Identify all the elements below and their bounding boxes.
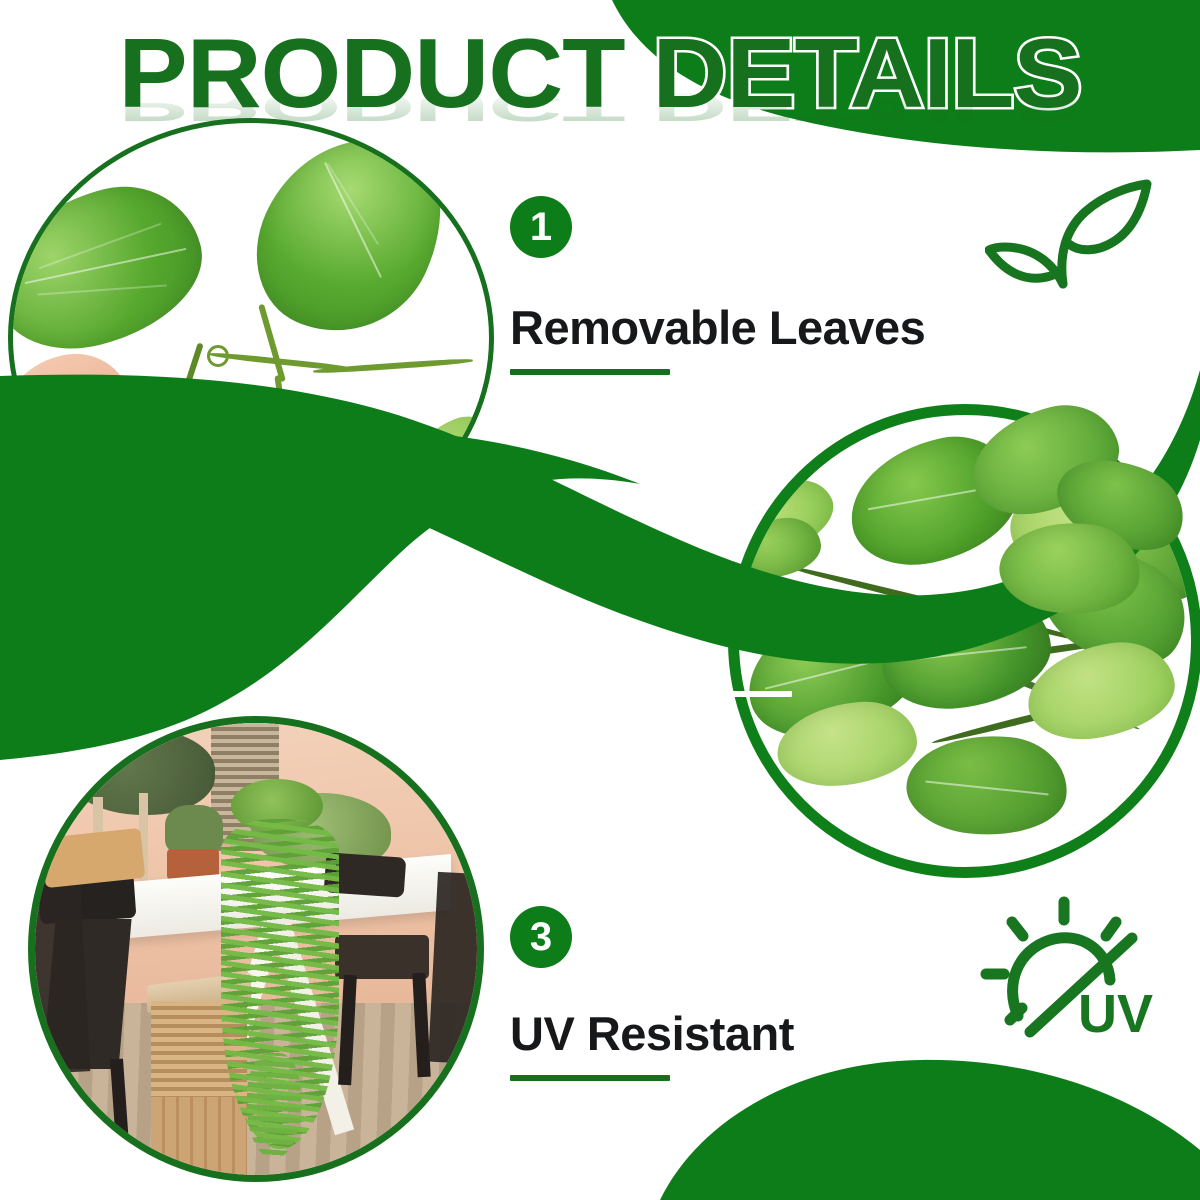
- background-shapes: [0, 0, 1200, 1200]
- bottom-right-green-shape: [660, 1060, 1200, 1200]
- product-details-infographic: PRODUCT DETAILS PRODUCT DETAILS: [0, 0, 1200, 1200]
- left-green-field: [0, 425, 640, 760]
- top-right-green-shape: [612, 0, 1200, 152]
